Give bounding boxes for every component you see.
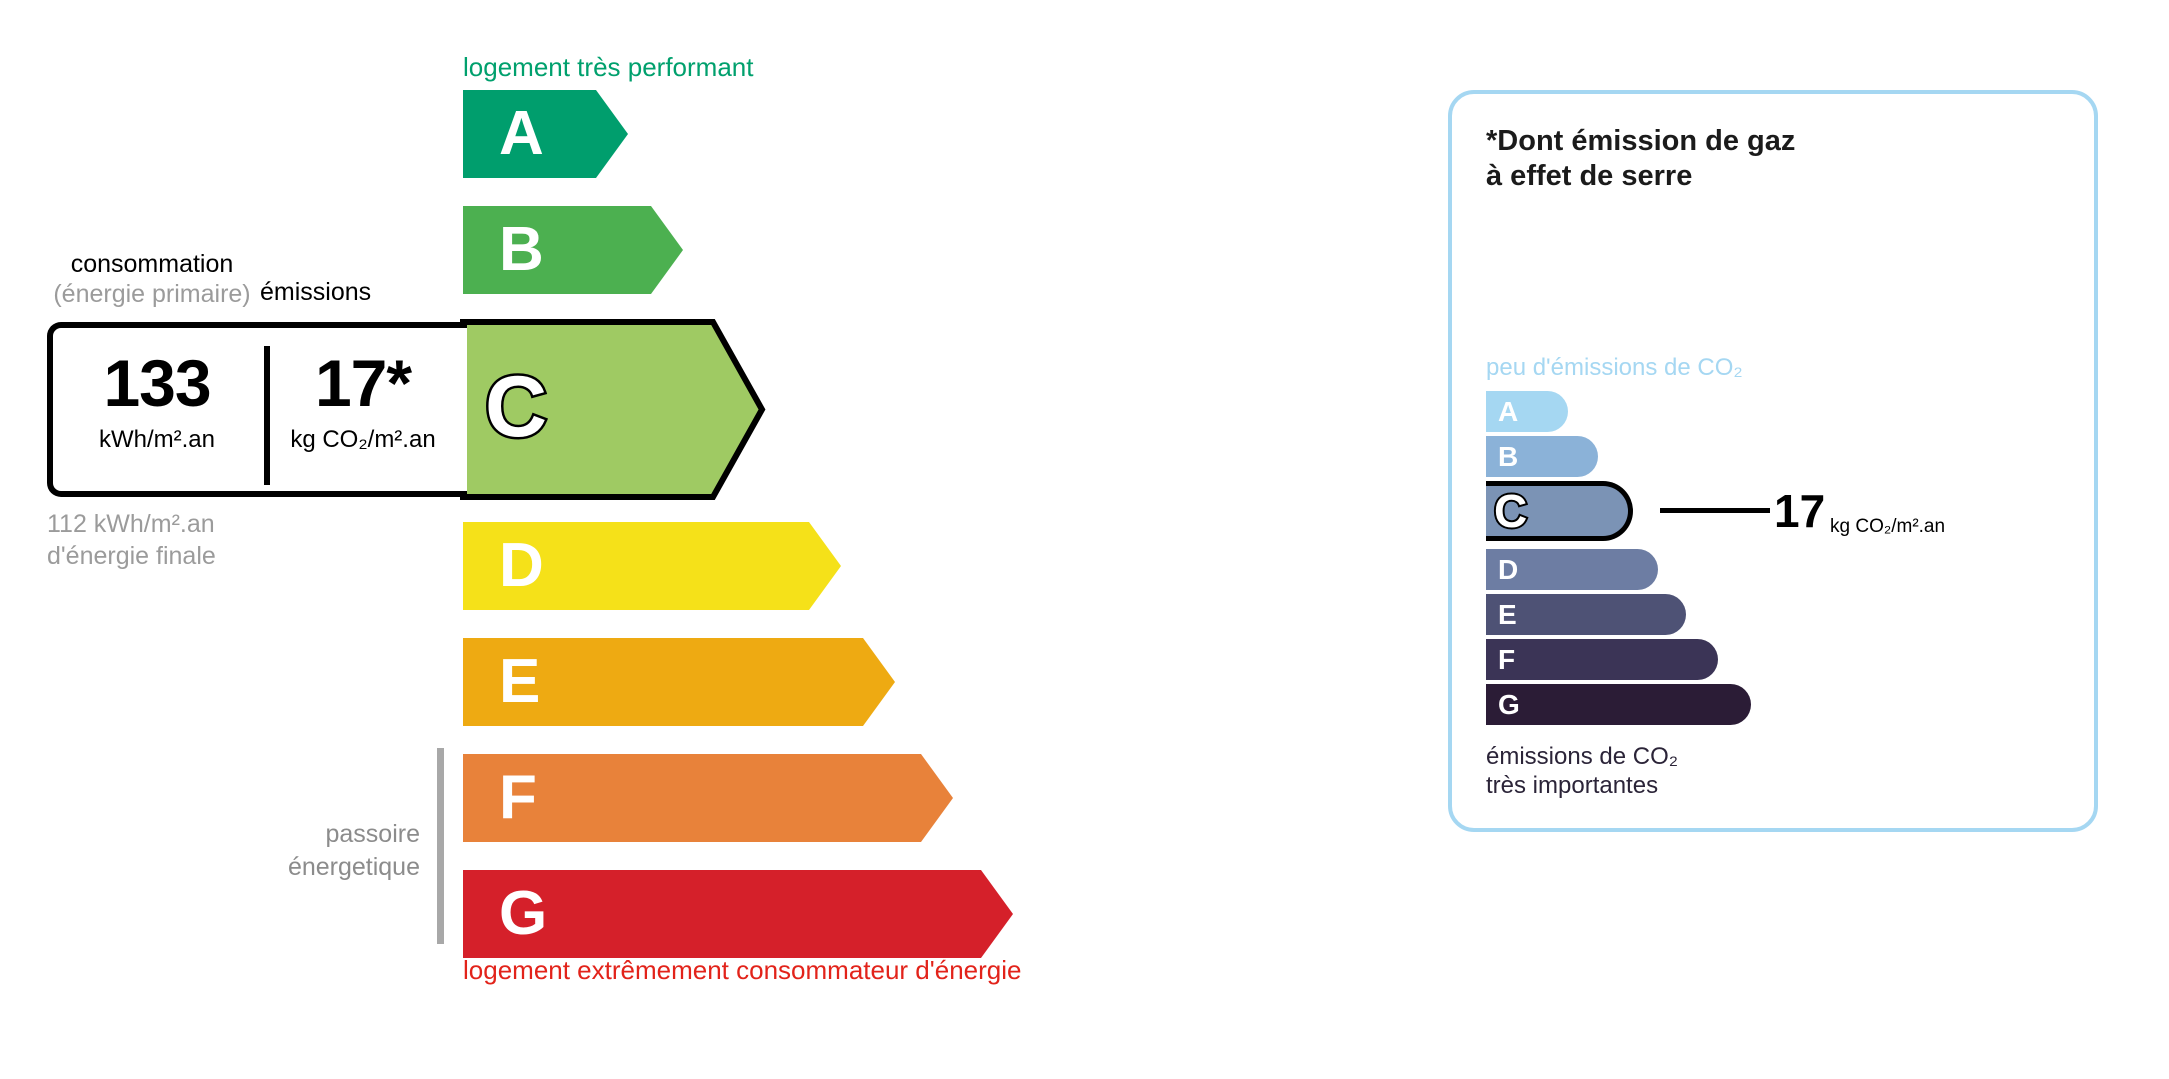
energy-row-c: C: [463, 322, 765, 497]
co2-row-b: B: [1486, 436, 1598, 477]
co2-row-g: G: [1486, 684, 1751, 725]
energy-row-g: G: [463, 870, 1013, 958]
co2-row-d: D: [1486, 549, 1658, 590]
co2-title-line2: à effet de serre: [1486, 159, 1795, 194]
emissions-value-cell: 17* kg CO₂/m².an: [265, 350, 461, 454]
energy-row-a: A: [463, 90, 628, 178]
co2-letter-c: C: [1494, 488, 1527, 534]
co2-letter-g: G: [1498, 691, 1520, 719]
co2-panel-title: *Dont émission de gaz à effet de serre: [1486, 124, 1795, 194]
co2-bar-c: C: [1486, 481, 1633, 541]
co2-row-a: A: [1486, 391, 1568, 432]
final-energy-line1: 112 kWh/m².an: [47, 508, 216, 540]
co2-callout-unit: kg CO₂/m².an: [1830, 516, 1945, 538]
co2-bottom-label-line2: très importantes: [1486, 771, 1678, 800]
co2-callout-value: 17: [1774, 488, 1825, 534]
emissions-unit: kg CO₂/m².an: [265, 426, 461, 454]
energy-arrow-e: E: [463, 638, 895, 726]
co2-bar-a: A: [1486, 391, 1568, 432]
co2-letter-b: B: [1498, 443, 1518, 471]
co2-row-c: C: [1486, 481, 1633, 541]
consumption-header: consommation (énergie primaire): [52, 250, 252, 309]
co2-letter-f: F: [1498, 646, 1515, 674]
consumption-header-line1: consommation: [52, 250, 252, 280]
energy-arrow-b: B: [463, 206, 683, 294]
passoire-label-line1: passoire: [180, 818, 420, 851]
energy-row-e: E: [463, 638, 895, 726]
co2-bar-b: B: [1486, 436, 1598, 477]
co2-bar-e: E: [1486, 594, 1686, 635]
co2-emissions-panel: *Dont émission de gaz à effet de serre p…: [1448, 90, 2098, 832]
co2-row-e: E: [1486, 594, 1686, 635]
energy-arrow-f: F: [463, 754, 953, 842]
co2-letter-a: A: [1498, 398, 1518, 426]
emissions-value: 17*: [265, 350, 461, 416]
co2-bar-d: D: [1486, 549, 1658, 590]
emissions-header: émissions: [260, 278, 371, 308]
consumption-value: 133: [59, 350, 255, 416]
scale-top-label: logement très performant: [463, 52, 753, 83]
co2-row-f: F: [1486, 639, 1718, 680]
final-energy-note: 112 kWh/m².an d'énergie finale: [47, 508, 216, 572]
energy-arrow-d: D: [463, 522, 841, 610]
energy-performance-diagram: logement très performant A B C: [0, 0, 1400, 1079]
value-box: 133 kWh/m².an 17* kg CO₂/m².an: [47, 322, 467, 497]
scale-bottom-label: logement extrêmement consommateur d'éner…: [463, 955, 1021, 986]
final-energy-line2: d'énergie finale: [47, 540, 216, 572]
energy-row-b: B: [463, 206, 683, 294]
energy-arrow-g: G: [463, 870, 1013, 958]
energy-row-f: F: [463, 754, 953, 842]
co2-title-line1: *Dont émission de gaz: [1486, 124, 1795, 159]
co2-letter-d: D: [1498, 556, 1518, 584]
consumption-header-line2: (énergie primaire): [52, 280, 252, 310]
co2-top-label: peu d'émissions de CO₂: [1486, 354, 1743, 382]
consumption-unit: kWh/m².an: [59, 426, 255, 454]
energy-row-d: D: [463, 522, 841, 610]
co2-letter-e: E: [1498, 601, 1517, 629]
co2-callout-leader-line: [1660, 508, 1770, 513]
consumption-value-cell: 133 kWh/m².an: [59, 350, 255, 454]
passoire-label: passoire énergetique: [180, 818, 420, 883]
energy-arrow-c: C: [463, 319, 765, 494]
co2-bar-g: G: [1486, 684, 1751, 725]
co2-bar-f: F: [1486, 639, 1718, 680]
energy-arrow-a: A: [463, 90, 628, 178]
co2-bottom-label-line1: émissions de CO₂: [1486, 742, 1678, 771]
passoire-bracket: [437, 748, 444, 944]
co2-bottom-label: émissions de CO₂ très importantes: [1486, 742, 1678, 801]
passoire-label-line2: énergetique: [180, 851, 420, 884]
